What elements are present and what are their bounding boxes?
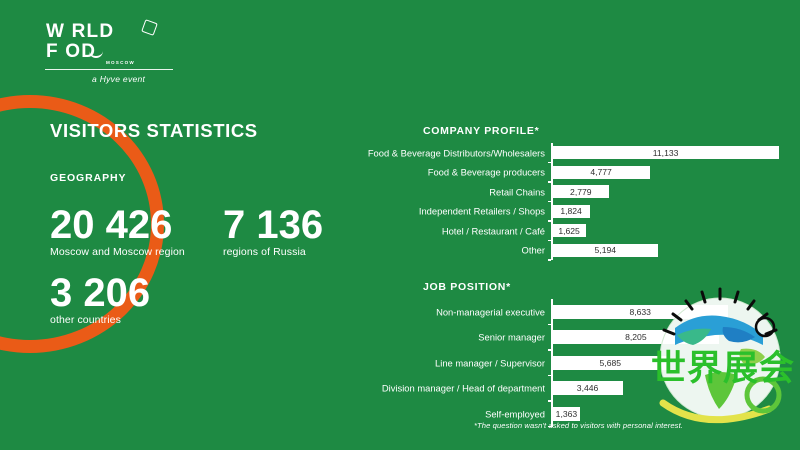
chart-bar: 1,824 xyxy=(553,205,590,218)
chart-category-label: Division manager / Head of department xyxy=(382,383,545,394)
stat-caption: regions of Russia xyxy=(223,246,323,259)
stat-regions-of-russia: 7 136 regions of Russia xyxy=(223,204,323,259)
page-title: VISITORS STATISTICS xyxy=(50,120,258,142)
chart-bar-value: 4,777 xyxy=(590,167,612,177)
hexagon-icon xyxy=(141,19,158,36)
smile-icon xyxy=(89,49,103,58)
chart-bar-value: 1,363 xyxy=(556,409,578,419)
chart-axis-tick xyxy=(548,162,551,164)
chart-bar-row: Senior manager8,205 xyxy=(551,330,720,344)
chart-category-label: Food & Beverage producers xyxy=(428,167,545,178)
logo-wordmark: W RLD F OD MOSCOW xyxy=(42,22,177,62)
chart-bar-row: Other5,194 xyxy=(551,244,658,257)
chart-bar-value: 11,133 xyxy=(653,148,679,158)
stat-value: 20 426 xyxy=(50,204,185,246)
chart-axis-tick xyxy=(548,375,551,377)
stat-value: 3 206 xyxy=(50,272,150,314)
chart-title: COMPANY PROFILE* xyxy=(423,125,539,137)
chart-bar: 4,777 xyxy=(553,166,650,179)
chart-category-label: Line manager / Supervisor xyxy=(435,357,545,368)
stat-moscow: 20 426 Moscow and Moscow region xyxy=(50,204,185,259)
stat-caption: Moscow and Moscow region xyxy=(50,246,185,259)
chart-category-label: Other xyxy=(522,245,545,256)
logo-tagline: a Hyve event xyxy=(92,74,145,84)
chart-category-label: Retail Chains xyxy=(489,186,545,197)
chart-bar-value: 1,824 xyxy=(560,206,582,216)
chart-bar-value: 8,205 xyxy=(625,332,647,342)
chart-bar-row: Division manager / Head of department3,4… xyxy=(551,381,623,395)
chart-bar-row: Independent Retailers / Shops1,824 xyxy=(551,205,590,218)
chart-axis-tick xyxy=(548,181,551,183)
chart-bar: 2,779 xyxy=(553,185,609,198)
logo-line-1: W RLD xyxy=(46,22,114,41)
logo-divider xyxy=(45,69,173,70)
chart-bar: 1,363 xyxy=(553,407,581,421)
chart-axis-tick xyxy=(548,201,551,203)
stat-other-countries: 3 206 other countries xyxy=(50,272,150,327)
chart-axis-tick xyxy=(548,259,551,261)
chart-bar: 3,446 xyxy=(553,381,623,395)
chart-bar: 8,205 xyxy=(553,330,720,344)
chart-bar-row: Food & Beverage producers4,777 xyxy=(551,166,650,179)
chart-axis-tick xyxy=(548,324,551,326)
logo-subtitle: MOSCOW xyxy=(106,60,135,65)
chart-category-label: Non-managerial executive xyxy=(436,306,545,317)
chart-bar-row: Retail Chains2,779 xyxy=(551,185,609,198)
geography-label: GEOGRAPHY xyxy=(50,172,126,184)
chart-bar-value: 3,446 xyxy=(577,383,599,393)
chart-bar-row: Non-managerial executive8,633 xyxy=(551,305,728,319)
chart-bar: 8,633 xyxy=(553,305,728,319)
chart-axis-tick xyxy=(548,240,551,242)
slide-canvas: W RLD F OD MOSCOW a Hyve event VISITORS … xyxy=(0,0,800,450)
chart-bar: 5,685 xyxy=(553,356,668,370)
stat-caption: other countries xyxy=(50,314,150,327)
chart-axis-tick xyxy=(548,220,551,222)
chart-category-label: Self-employed xyxy=(485,408,545,419)
chart-category-label: Independent Retailers / Shops xyxy=(419,206,545,217)
chart-category-label: Food & Beverage Distributors/Wholesalers xyxy=(368,147,545,158)
chart-bar-value: 2,779 xyxy=(570,187,592,197)
chart-category-label: Senior manager xyxy=(478,332,545,343)
chart-bar-row: Self-employed1,363 xyxy=(551,407,581,421)
chart-bar: 1,625 xyxy=(553,224,586,237)
chart-axis-tick xyxy=(548,349,551,351)
chart-bar-value: 1,625 xyxy=(558,226,580,236)
chart-bar-value: 5,685 xyxy=(600,358,622,368)
chart-bar-row: Hotel / Restaurant / Café1,625 xyxy=(551,224,586,237)
footnote: *The question wasn't asked to visitors w… xyxy=(474,421,683,430)
chart-bar-row: Food & Beverage Distributors/Wholesalers… xyxy=(551,146,779,159)
chart-category-label: Hotel / Restaurant / Café xyxy=(442,225,545,236)
stat-value: 7 136 xyxy=(223,204,323,246)
chart-y-axis xyxy=(551,143,553,260)
chart-bar: 5,194 xyxy=(553,244,658,257)
chart-bar-row: Line manager / Supervisor5,685 xyxy=(551,356,668,370)
world-food-moscow-logo: W RLD F OD MOSCOW a Hyve event xyxy=(42,22,177,82)
chart-bar-value: 5,194 xyxy=(595,245,617,255)
chart-bar-value: 8,633 xyxy=(629,307,651,317)
chart-bar: 11,133 xyxy=(553,146,779,159)
chart-axis-tick xyxy=(548,400,551,402)
chart-title: JOB POSITION* xyxy=(423,281,511,293)
